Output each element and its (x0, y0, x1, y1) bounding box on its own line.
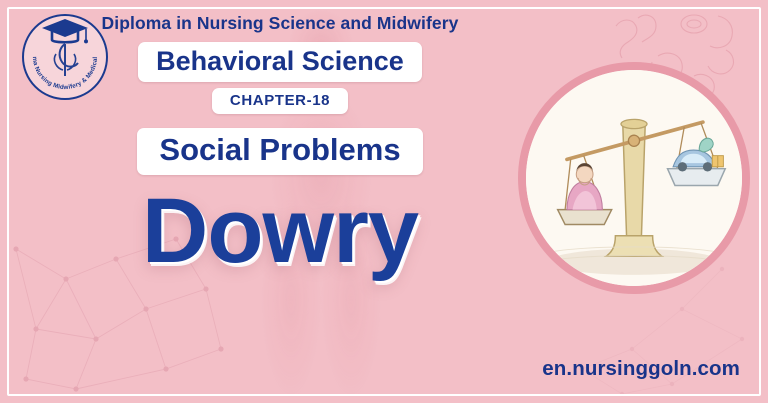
banner-canvas: Diploma Nursing Midwifery & Medical Care… (0, 0, 768, 403)
banner-border (7, 7, 761, 396)
